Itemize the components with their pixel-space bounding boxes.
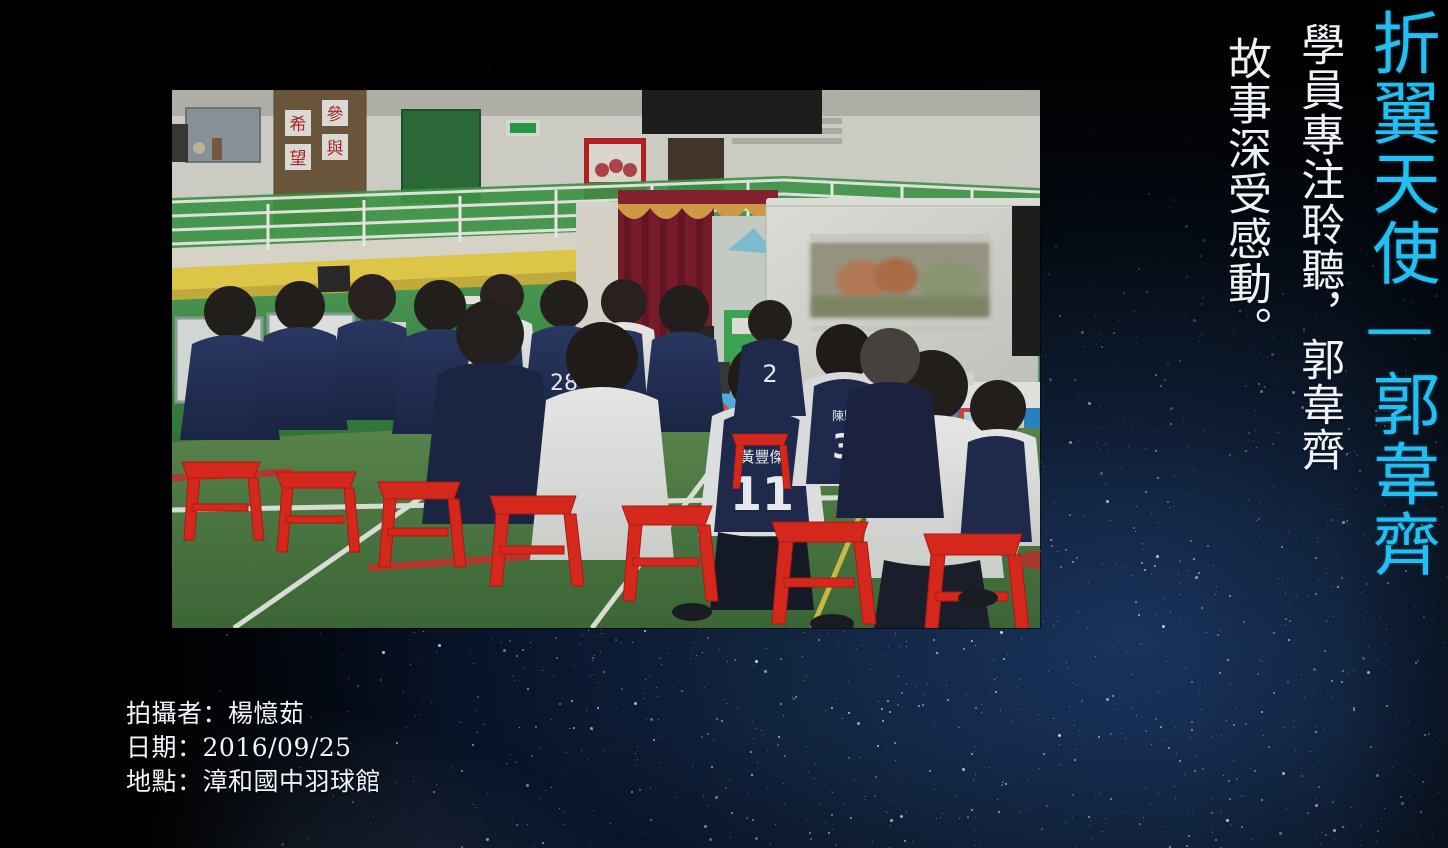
photo-caption: 拍攝者：楊憶茹 日期：2016/09/25 地點：漳和國中羽球館 — [126, 697, 381, 799]
vertical-text-block: 折翼天使—郭韋齊 學員專注聆聽，郭韋齊 故事深受感動。 — [1209, 0, 1442, 848]
slide-title: 折翼天使—郭韋齊 — [1355, 0, 1442, 579]
slide-canvas: 希 望 參 與 — [0, 0, 1448, 848]
body-column-2: 故事深受感動。 — [1209, 0, 1282, 351]
photo-illustration: 希 望 參 與 — [172, 90, 1040, 628]
caption-photographer: 拍攝者：楊憶茹 — [126, 697, 381, 731]
photo-gymnasium-assembly: 希 望 參 與 — [172, 90, 1040, 628]
caption-date: 日期：2016/09/25 — [126, 731, 381, 765]
caption-location: 地點：漳和國中羽球館 — [126, 765, 381, 799]
body-column-1: 學員專注聆聽，郭韋齊 — [1282, 0, 1355, 472]
